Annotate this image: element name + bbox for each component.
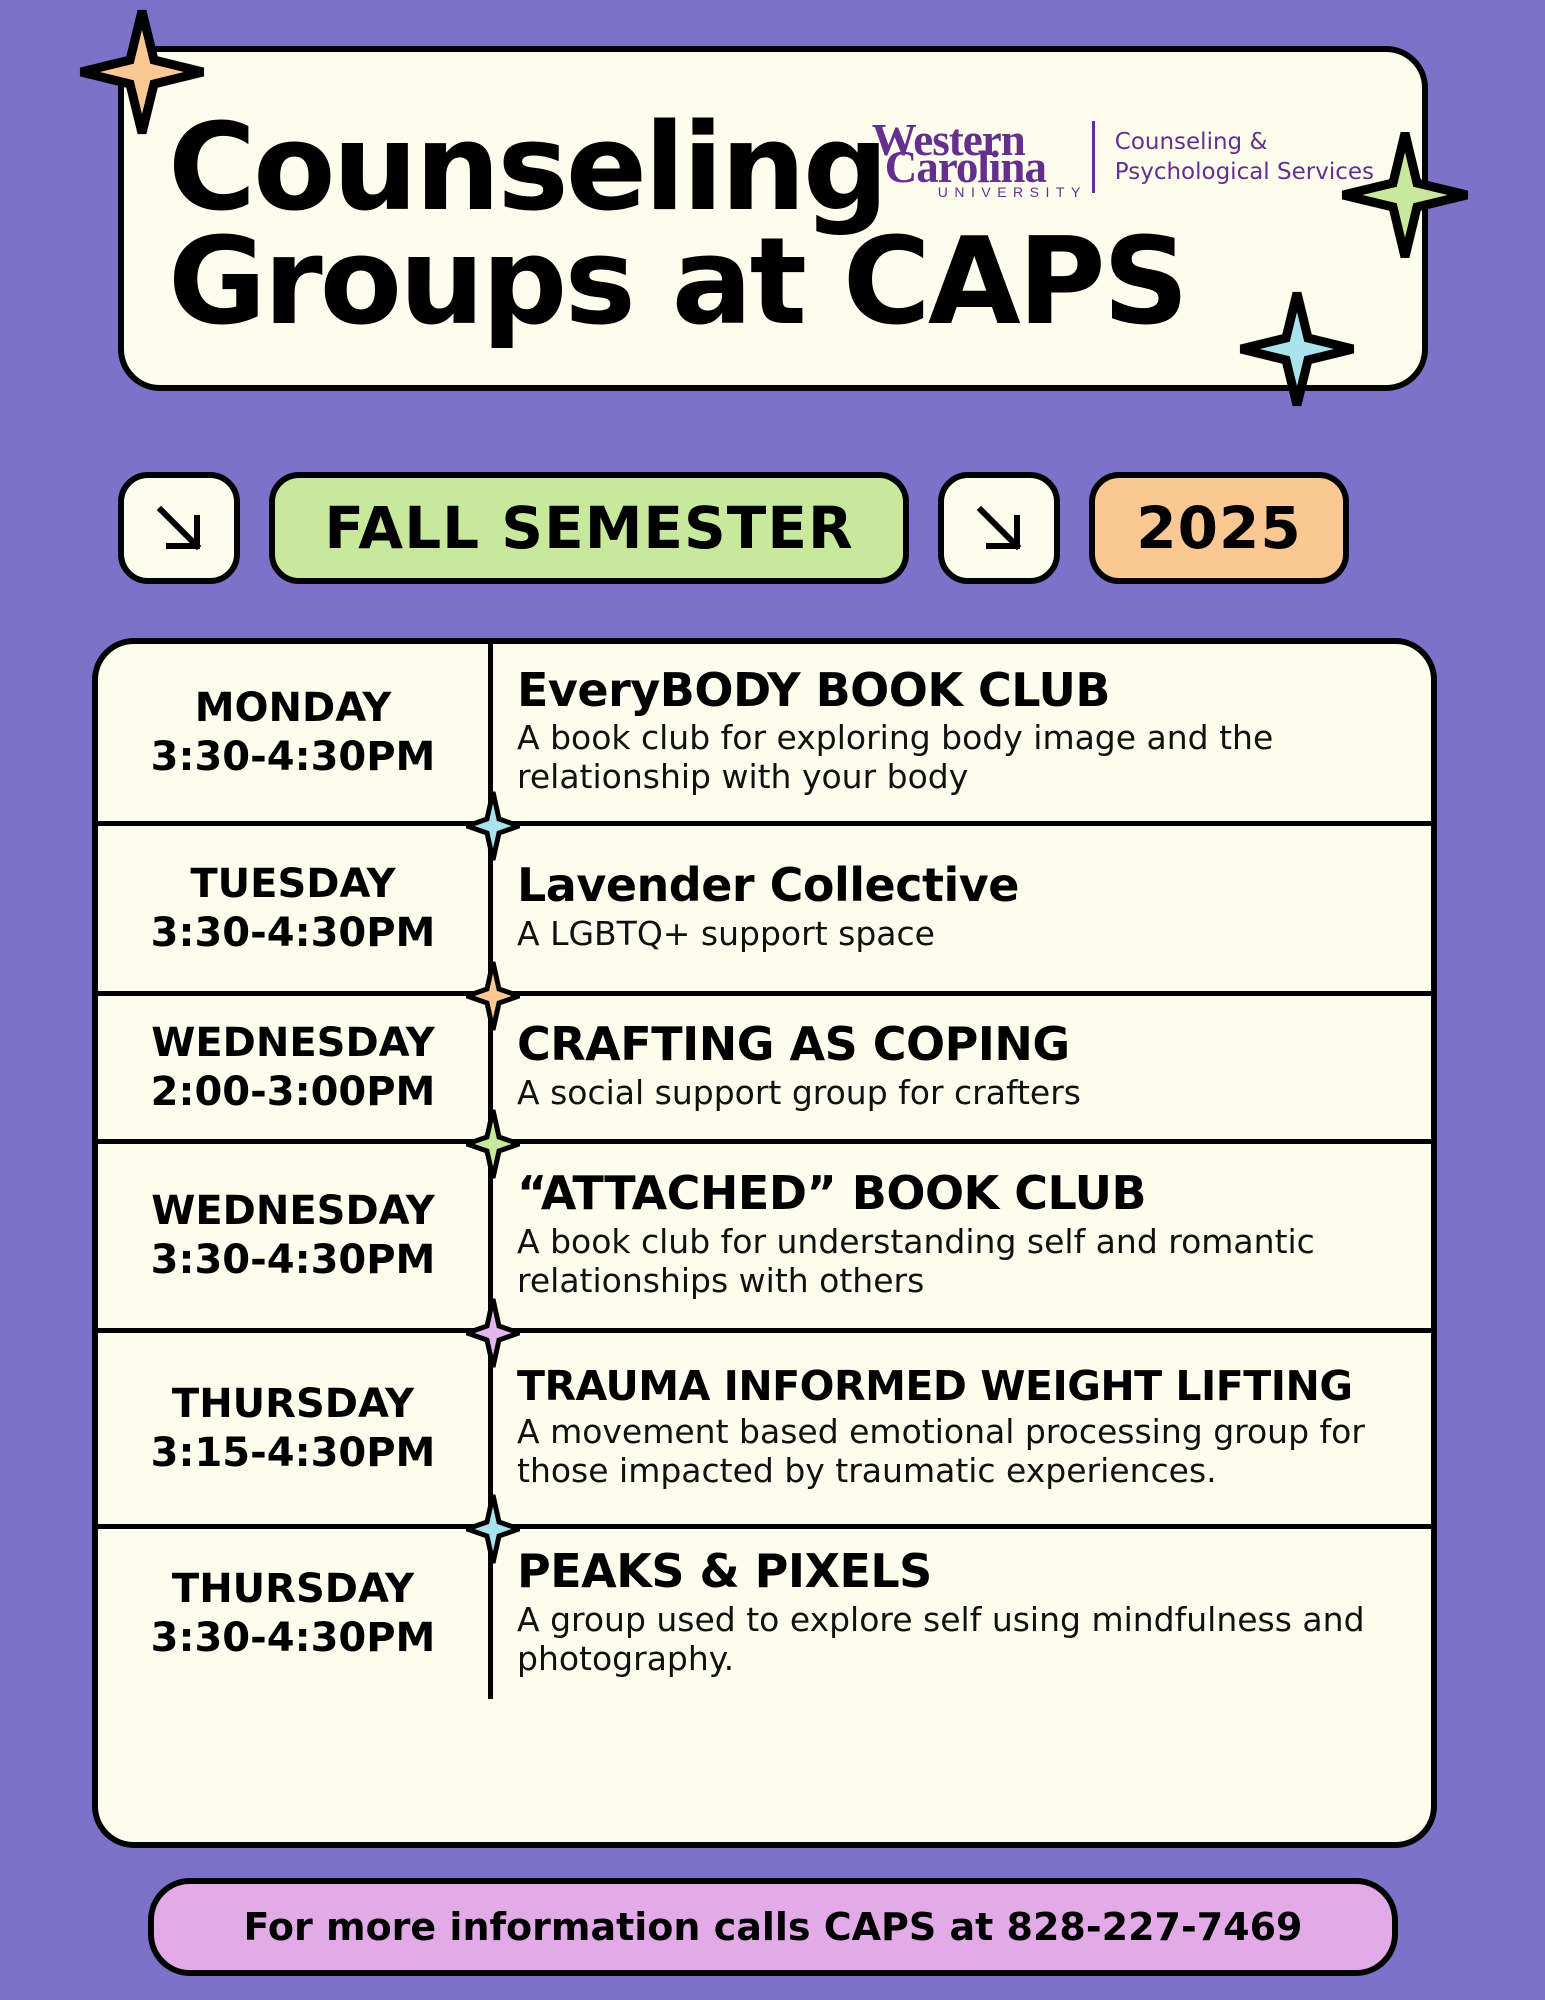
row-when: TUESDAY 3:30-4:30PM: [98, 826, 493, 991]
logo-subtitle: Counseling & Psychological Services: [1115, 127, 1374, 188]
group-title: CRAFTING AS COPING: [517, 1020, 1409, 1070]
table-row: WEDNESDAY 3:30-4:30PM “ATTACHED” BOOK CL…: [98, 1144, 1431, 1333]
row-time: 3:30-4:30PM: [151, 1614, 436, 1663]
title-line-2: Groups at CAPS: [168, 226, 1388, 340]
row-time: 3:30-4:30PM: [151, 909, 436, 958]
table-row: THURSDAY 3:30-4:30PM PEAKS & PIXELS A gr…: [98, 1529, 1431, 1699]
group-desc: A movement based emotional processing gr…: [517, 1413, 1409, 1491]
header-card: Counseling Groups at CAPS Western Caroli…: [118, 46, 1428, 391]
row-day: MONDAY: [195, 684, 392, 733]
group-title: PEAKS & PIXELS: [517, 1547, 1409, 1597]
group-title: “ATTACHED” BOOK CLUB: [517, 1169, 1409, 1219]
arrow-down-right-icon-2: [938, 472, 1060, 584]
row-day: WEDNESDAY: [151, 1019, 435, 1068]
semester-badge: FALL SEMESTER: [269, 472, 909, 584]
logo-subtitle-line-1: Counseling &: [1115, 127, 1374, 157]
group-desc: A book club for exploring body image and…: [517, 719, 1409, 797]
wcu-wordmark: Western Carolina UNIVERSITY: [872, 114, 1072, 200]
row-day: WEDNESDAY: [151, 1187, 435, 1236]
row-when: MONDAY 3:30-4:30PM: [98, 644, 493, 821]
year-badge: 2025: [1089, 472, 1349, 584]
row-what: EveryBODY BOOK CLUB A book club for expl…: [493, 644, 1431, 821]
group-desc: A social support group for crafters: [517, 1074, 1409, 1113]
table-row: WEDNESDAY 2:00-3:00PM CRAFTING AS COPING…: [98, 996, 1431, 1144]
row-what: “ATTACHED” BOOK CLUB A book club for und…: [493, 1144, 1431, 1328]
table-row: THURSDAY 3:15-4:30PM TRAUMA INFORMED WEI…: [98, 1333, 1431, 1529]
group-title: TRAUMA INFORMED WEIGHT LIFTING: [517, 1364, 1409, 1408]
row-what: Lavender Collective A LGBTQ+ support spa…: [493, 826, 1431, 991]
group-desc: A LGBTQ+ support space: [517, 915, 1409, 954]
row-day: TUESDAY: [190, 860, 395, 909]
logo-divider: [1092, 121, 1095, 193]
table-row: TUESDAY 3:30-4:30PM Lavender Collective …: [98, 826, 1431, 996]
row-time: 3:30-4:30PM: [151, 733, 436, 782]
contact-text: For more information calls CAPS at 828-2…: [243, 1905, 1302, 1949]
row-when: WEDNESDAY 2:00-3:00PM: [98, 996, 493, 1139]
row-day: THURSDAY: [172, 1565, 414, 1614]
logo-word-university: UNIVERSITY: [938, 184, 1087, 200]
badge-row: FALL SEMESTER 2025: [118, 472, 1428, 584]
poster: Counseling Groups at CAPS Western Caroli…: [0, 0, 1545, 2000]
row-what: CRAFTING AS COPING A social support grou…: [493, 996, 1431, 1139]
row-what: TRAUMA INFORMED WEIGHT LIFTING A movemen…: [493, 1333, 1431, 1524]
row-what: PEAKS & PIXELS A group used to explore s…: [493, 1529, 1431, 1699]
group-desc: A group used to explore self using mindf…: [517, 1601, 1409, 1679]
contact-banner: For more information calls CAPS at 828-2…: [148, 1878, 1398, 1976]
row-when: THURSDAY 3:30-4:30PM: [98, 1529, 493, 1699]
row-time: 2:00-3:00PM: [151, 1068, 436, 1117]
logo-subtitle-line-2: Psychological Services: [1115, 157, 1374, 187]
arrow-down-right-icon-1: [118, 472, 240, 584]
row-when: THURSDAY 3:15-4:30PM: [98, 1333, 493, 1524]
wcu-logo: Western Carolina UNIVERSITY Counseling &…: [872, 114, 1374, 200]
row-day: THURSDAY: [172, 1380, 414, 1429]
row-when: WEDNESDAY 3:30-4:30PM: [98, 1144, 493, 1328]
group-title: Lavender Collective: [517, 861, 1409, 911]
row-time: 3:30-4:30PM: [151, 1236, 436, 1285]
table-row: MONDAY 3:30-4:30PM EveryBODY BOOK CLUB A…: [98, 644, 1431, 826]
group-desc: A book club for understanding self and r…: [517, 1223, 1409, 1301]
row-time: 3:15-4:30PM: [151, 1429, 436, 1478]
schedule-card: MONDAY 3:30-4:30PM EveryBODY BOOK CLUB A…: [92, 638, 1437, 1848]
group-title: EveryBODY BOOK CLUB: [517, 666, 1409, 716]
